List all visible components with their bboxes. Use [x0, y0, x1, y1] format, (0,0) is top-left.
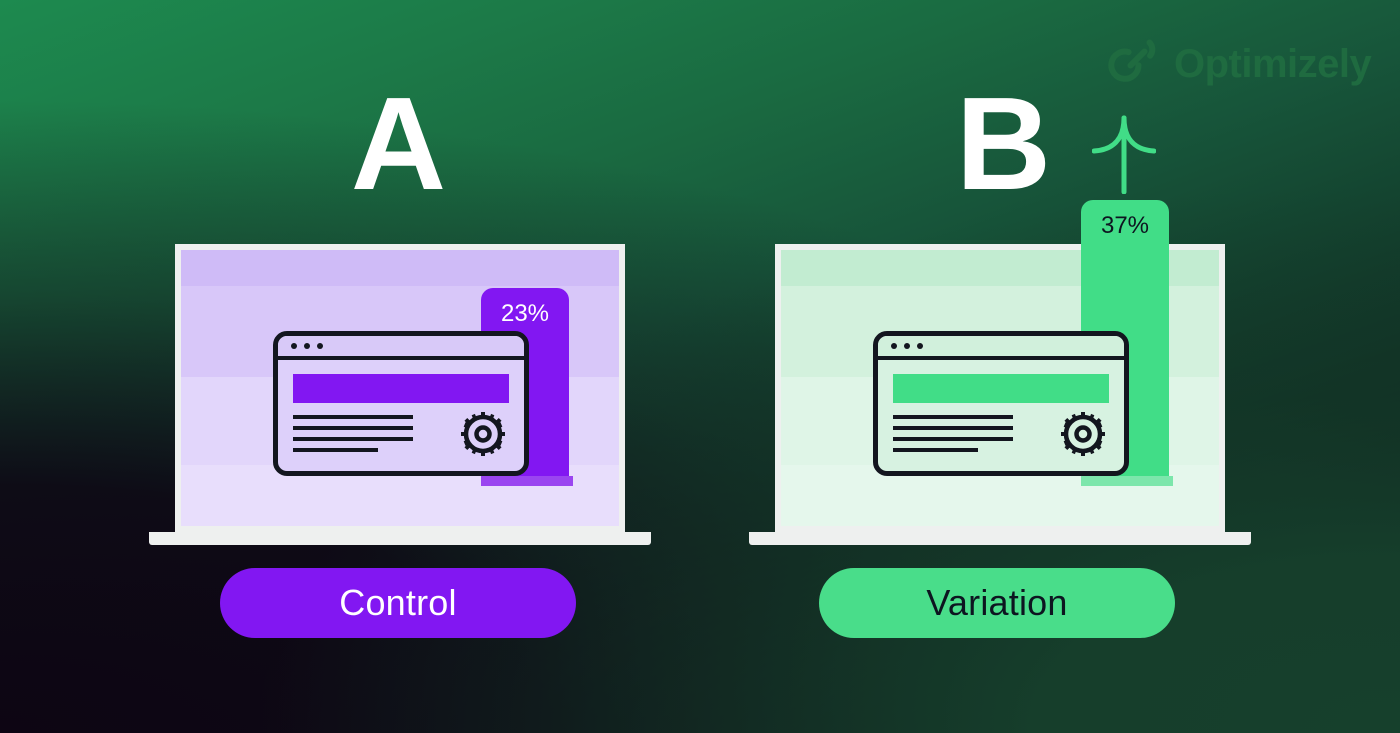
optimizely-logo: Optimizely: [1108, 36, 1371, 92]
trend-up-arrow-icon: [1092, 104, 1156, 194]
optimizely-wordmark: Optimizely: [1174, 44, 1371, 84]
metric-bar-foot: [481, 476, 573, 486]
window-dot-icon: [917, 343, 923, 349]
metric-bar-value-variation: 37%: [1081, 214, 1169, 238]
variant-pill-variation[interactable]: Variation: [819, 568, 1175, 638]
variant-letter-b: B: [903, 78, 1103, 210]
window-dot-icon: [891, 343, 897, 349]
text-line: [893, 415, 1013, 419]
browser-titlebar: [878, 336, 1124, 360]
screen-band: [181, 250, 619, 286]
gear-icon: [460, 411, 506, 457]
metric-bar-foot: [1081, 476, 1173, 486]
variant-letter-a: A: [298, 78, 498, 210]
window-dot-icon: [904, 343, 910, 349]
text-line: [893, 426, 1013, 430]
text-lines: [893, 415, 1013, 452]
hero-banner: [293, 374, 509, 403]
text-line: [293, 437, 413, 441]
variant-pill-label-variation: Variation: [926, 582, 1067, 624]
browser-mock-control: [273, 331, 529, 476]
browser-content: [878, 360, 1124, 471]
text-line: [893, 437, 1013, 441]
browser-titlebar: [278, 336, 524, 360]
laptop-base-control: [149, 532, 651, 545]
text-line: [293, 426, 413, 430]
text-lines: [293, 415, 413, 452]
ab-test-illustration: Optimizely A 23%: [0, 0, 1400, 733]
text-line: [293, 415, 413, 419]
text-line: [893, 448, 978, 452]
browser-content: [278, 360, 524, 471]
variant-pill-label-control: Control: [339, 582, 456, 624]
window-dot-icon: [317, 343, 323, 349]
hero-banner: [893, 374, 1109, 403]
browser-mock-variation: [873, 331, 1129, 476]
laptop-base-variation: [749, 532, 1251, 545]
window-dot-icon: [304, 343, 310, 349]
text-line: [293, 448, 378, 452]
gear-icon: [1060, 411, 1106, 457]
optimizely-logo-mark-icon: [1108, 36, 1164, 92]
window-dot-icon: [291, 343, 297, 349]
variant-pill-control[interactable]: Control: [220, 568, 576, 638]
metric-bar-value-control: 23%: [481, 302, 569, 326]
